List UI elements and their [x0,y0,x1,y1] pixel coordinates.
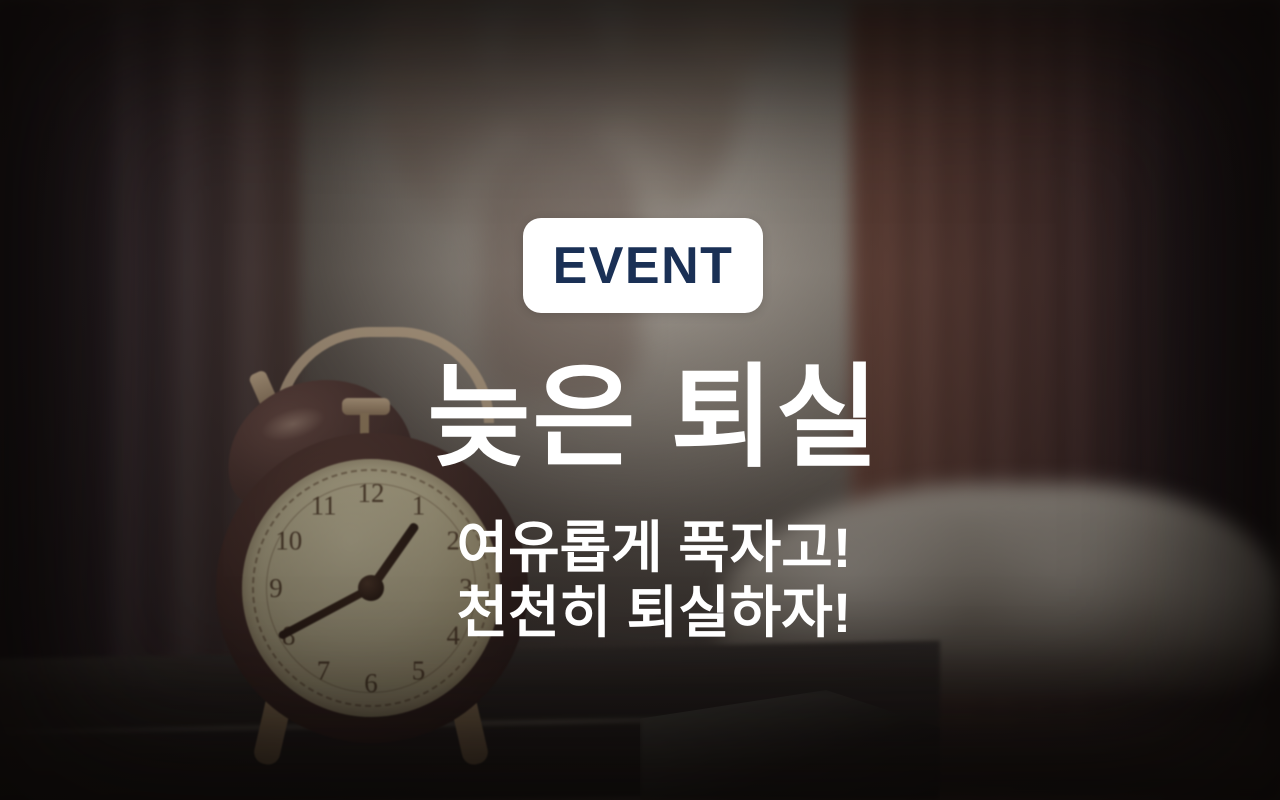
event-badge-label: EVENT [553,236,734,296]
subtitle-line-1: 여유롭게 푹자고! [14,516,1280,581]
event-badge[interactable]: EVENT [523,218,763,313]
subtitle-line-2: 천천히 퇴실하자! [14,581,1280,646]
subtitle: 여유롭게 푹자고! 천천히 퇴실하자! [14,516,1280,646]
banner-content: EVENT 늦은 퇴실 여유롭게 푹자고! 천천히 퇴실하자! [0,0,1280,800]
event-banner: 121234567891011 EVENT 늦은 퇴실 여유롭게 푹자고! 천천… [0,0,1280,800]
page-title: 늦은 퇴실 [14,358,1280,479]
